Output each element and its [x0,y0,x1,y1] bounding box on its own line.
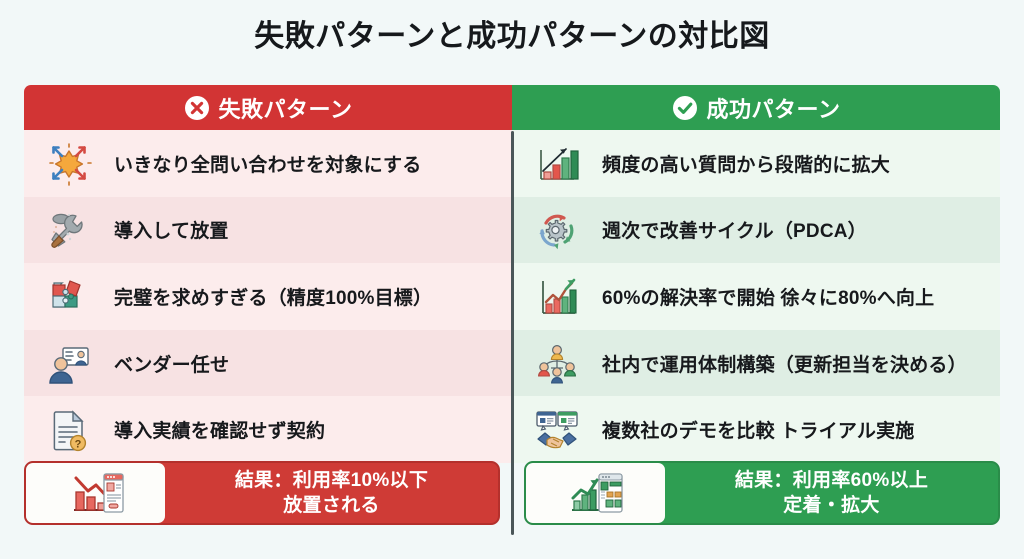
failure-result-text: 結果：利用率10%以下 放置される [165,468,498,518]
list-item[interactable]: 60%の解決率で開始 徐々に80%へ向上 [512,263,1000,330]
list-item[interactable]: 頻度の高い質問から段階的に拡大 [512,130,1000,197]
chart-up-dashboard-icon [525,463,665,523]
column-divider [511,131,514,535]
success-column-title: 成功パターン [707,92,841,124]
svg-text:?: ? [75,438,82,450]
list-item-label: 頻度の高い質問から段階的に拡大 [602,150,890,177]
list-item[interactable]: 複数社のデモを比較 トライアル実施 [512,396,1000,463]
failure-column-title: 失敗パターン [219,92,353,124]
list-item-label: 社内で運用体制構築（更新担当を決める） [602,350,967,377]
circle-check-icon [672,95,698,121]
gear-cycle-icon [534,207,580,253]
failure-result-bar: 結果：利用率10%以下 放置される [24,461,500,525]
list-item-label: 導入実績を確認せず契約 [114,416,325,443]
list-item[interactable]: 完璧を求めすぎる（精度100%目標） [24,263,512,330]
failure-result-footer: 結果：利用率10%以下 放置される [24,457,512,535]
puzzle-icon [46,273,92,319]
list-item-label: 複数社のデモを比較 トライアル実施 [602,416,915,443]
chart-down-dashboard-icon [25,463,165,523]
failure-result-line2: 放置される [171,493,492,518]
document-question-icon: ? [46,407,92,453]
list-item-label: 60%の解決率で開始 徐々に80%へ向上 [602,283,934,310]
list-item[interactable]: 導入して放置 [24,197,512,264]
page-title: 失敗パターンと成功パターンの対比図 [0,17,1024,57]
success-column-header: 成功パターン [512,85,1000,130]
list-item[interactable]: いきなり全問い合わせを対象にする [24,130,512,197]
failure-result-line1: 結果：利用率10%以下 [171,468,492,493]
list-item[interactable]: 週次で改善サイクル（PDCA） [512,197,1000,264]
list-item[interactable]: ベンダー任せ [24,330,512,397]
handshake-demo-icon [534,407,580,453]
circle-x-icon [184,95,210,121]
list-item[interactable]: ? 導入実績を確認せず契約 [24,396,512,463]
success-result-line2: 定着・拡大 [671,493,992,518]
list-item-label: いきなり全問い合わせを対象にする [114,150,421,177]
success-result-bar: 結果：利用率60%以上 定着・拡大 [524,461,1000,525]
team-structure-icon [534,340,580,386]
wrench-icon [46,207,92,253]
failure-rows: いきなり全問い合わせを対象にする 導入して放置 [24,130,512,463]
success-result-line1: 結果：利用率60%以上 [671,468,992,493]
failure-pattern-column: 失敗パターン [24,85,512,535]
explosion-icon [46,140,92,186]
success-rows: 頻度の高い質問から段階的に拡大 週次で改 [512,130,1000,463]
growth-chart-icon [534,273,580,319]
success-result-text: 結果：利用率60%以上 定着・拡大 [665,468,998,518]
list-item-label: 完璧を求めすぎる（精度100%目標） [114,283,432,310]
list-item-label: 導入して放置 [114,216,229,243]
list-item-label: ベンダー任せ [114,350,229,377]
failure-column-header: 失敗パターン [24,85,512,130]
person-card-icon [46,340,92,386]
success-pattern-column: 成功パターン 頻度の高い質問から段階的に拡大 [512,85,1000,535]
list-item-label: 週次で改善サイクル（PDCA） [602,216,867,243]
success-result-footer: 結果：利用率60%以上 定着・拡大 [512,457,1000,535]
list-item[interactable]: 社内で運用体制構築（更新担当を決める） [512,330,1000,397]
bar-chart-up-icon [534,140,580,186]
